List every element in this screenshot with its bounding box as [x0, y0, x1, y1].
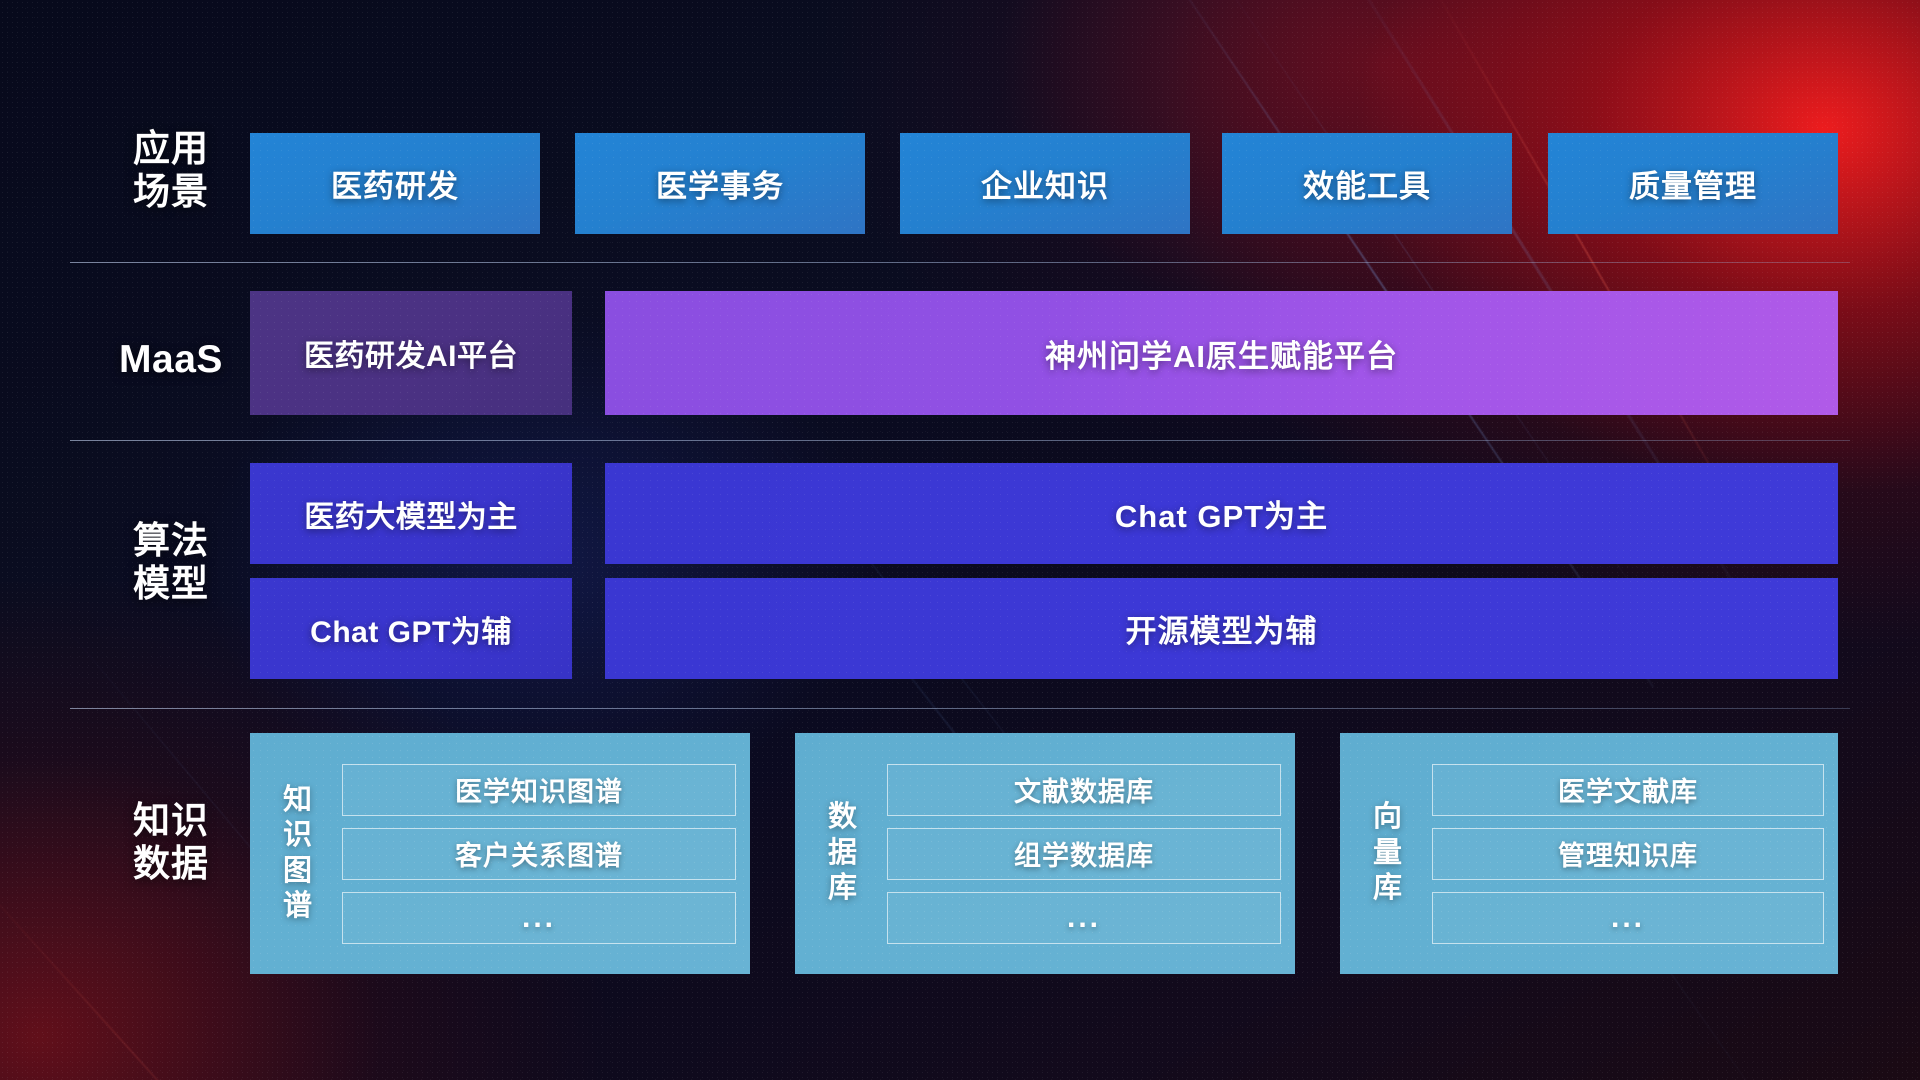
knowledge-panel-graph-items: 医学知识图谱 客户关系图谱 ...: [334, 747, 736, 960]
algo-right-box-1-label: Chat GPT为主: [1115, 491, 1328, 536]
knowledge-item-vector-3[interactable]: ...: [1432, 892, 1824, 944]
knowledge-panel-graph-title: 知 识 图 谱: [262, 747, 334, 960]
knowledge-panel-database-items: 文献数据库 组学数据库 ...: [879, 747, 1281, 960]
algo-left-box-2[interactable]: Chat GPT为辅: [250, 578, 572, 679]
divider-maas-algorithm: [70, 440, 1850, 441]
algo-right-box-1[interactable]: Chat GPT为主: [605, 463, 1838, 564]
knowledge-item-graph-1[interactable]: 医学知识图谱: [342, 764, 736, 816]
algo-left-box-1[interactable]: 医药大模型为主: [250, 463, 572, 564]
app-box-3-label: 企业知识: [981, 161, 1109, 206]
divider-application-maas: [70, 262, 1850, 263]
divider-algorithm-knowledge: [70, 708, 1850, 709]
knowledge-panel-database-title: 数 据 库: [807, 747, 879, 960]
maas-platform-label: 医药研发AI平台: [304, 331, 518, 375]
algo-left-box-2-label: Chat GPT为辅: [310, 607, 512, 651]
row-label-maas: MaaS: [86, 337, 256, 382]
app-box-1-label: 医药研发: [331, 161, 459, 206]
knowledge-item-vector-2[interactable]: 管理知识库: [1432, 828, 1824, 880]
maas-platform-box[interactable]: 医药研发AI平台: [250, 291, 572, 415]
algo-right-box-2-label: 开源模型为辅: [1126, 606, 1318, 651]
knowledge-panel-vector-items: 医学文献库 管理知识库 ...: [1424, 747, 1824, 960]
knowledge-item-database-1[interactable]: 文献数据库: [887, 764, 1281, 816]
knowledge-panel-vector-title: 向 量 库: [1352, 747, 1424, 960]
row-label-application: 应用 场景: [86, 128, 256, 214]
algo-right-box-2[interactable]: 开源模型为辅: [605, 578, 1838, 679]
knowledge-item-vector-1[interactable]: 医学文献库: [1432, 764, 1824, 816]
knowledge-item-graph-2[interactable]: 客户关系图谱: [342, 828, 736, 880]
app-box-2[interactable]: 医学事务: [575, 133, 865, 234]
app-box-4-label: 效能工具: [1303, 161, 1431, 206]
row-label-algorithm: 算法 模型: [86, 520, 256, 606]
knowledge-item-database-2[interactable]: 组学数据库: [887, 828, 1281, 880]
maas-enablement-box[interactable]: 神州问学AI原生赋能平台: [605, 291, 1838, 415]
knowledge-panel-vector[interactable]: 向 量 库 医学文献库 管理知识库 ...: [1340, 733, 1838, 974]
app-box-4[interactable]: 效能工具: [1222, 133, 1512, 234]
knowledge-panel-graph[interactable]: 知 识 图 谱 医学知识图谱 客户关系图谱 ...: [250, 733, 750, 974]
app-box-2-label: 医学事务: [656, 161, 784, 206]
app-box-1[interactable]: 医药研发: [250, 133, 540, 234]
app-box-3[interactable]: 企业知识: [900, 133, 1190, 234]
app-box-5-label: 质量管理: [1629, 161, 1757, 206]
knowledge-item-graph-3[interactable]: ...: [342, 892, 736, 944]
diagram-canvas: 应用 场景 医药研发 医学事务 企业知识 效能工具 质量管理 MaaS 医药研发…: [0, 0, 1920, 1080]
maas-enablement-label: 神州问学AI原生赋能平台: [1045, 331, 1398, 376]
algo-left-box-1-label: 医药大模型为主: [304, 492, 518, 536]
row-label-knowledge: 知识 数据: [86, 800, 256, 886]
app-box-5[interactable]: 质量管理: [1548, 133, 1838, 234]
knowledge-panel-database[interactable]: 数 据 库 文献数据库 组学数据库 ...: [795, 733, 1295, 974]
knowledge-item-database-3[interactable]: ...: [887, 892, 1281, 944]
